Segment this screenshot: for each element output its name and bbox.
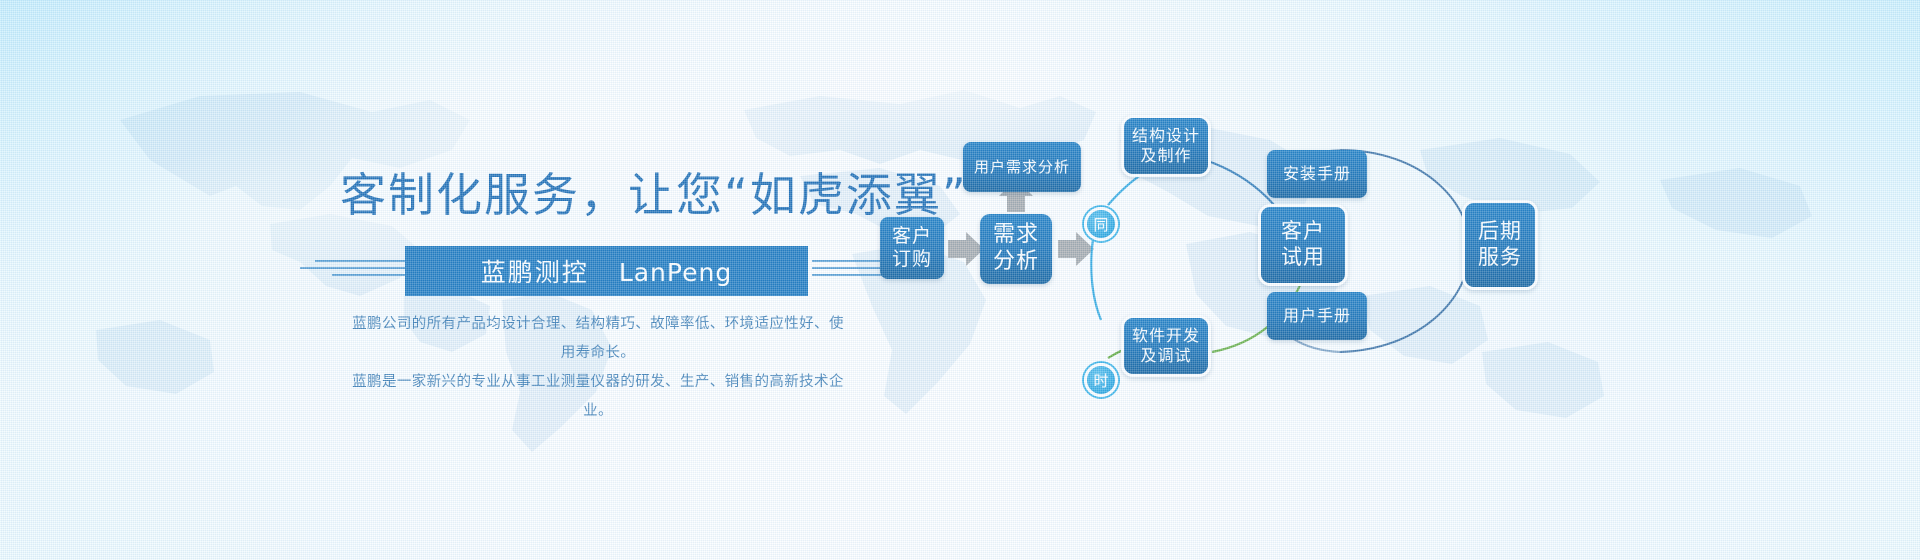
flow-node-label: 客户 订购 [892,225,932,271]
marker-simultaneous-shi: 时 [1084,363,1118,397]
flow-node-label-line2: 服务 [1478,245,1522,271]
flow-node-label-line2: 订购 [892,248,932,271]
customized-service-banner: 客制化服务，让您“如虎添翼” 蓝鹏测控LanPeng 蓝鹏公司的所有产品均设计合… [0,0,1920,560]
flow-node-label-line1: 客户 [892,225,932,248]
flow-node-label-line2: 试用 [1281,245,1325,271]
description-line-1: 蓝鹏公司的所有产品均设计合理、结构精巧、故障率低、环境适应性好、使用寿命长。 [348,310,848,368]
flow-node-label: 后期 服务 [1478,219,1522,270]
flow-node-label-line2: 及调试 [1132,346,1200,366]
page-title: 客制化服务，让您“如虎添翼” [340,166,968,224]
marker-simultaneous-tong: 同 [1084,207,1118,241]
flow-connectors [0,0,1920,560]
flow-node-requirement-analysis: 需求 分析 [980,214,1052,284]
flow-node-label: 需求 分析 [993,222,1039,276]
flow-node-label-line1: 软件开发 [1132,326,1200,346]
flow-node-label: 结构设计 及制作 [1132,126,1200,165]
brand-bar-text: 蓝鹏测控LanPeng [481,253,732,289]
brand-name-cn: 蓝鹏测控 [481,258,589,287]
brand-bar: 蓝鹏测控LanPeng [405,246,808,296]
flow-node-user-manual: 用户手册 [1267,292,1367,340]
marker-label: 同 [1093,214,1108,235]
flow-node-label-line2: 分析 [993,249,1039,276]
deco-line [300,267,410,269]
flow-node-installation-manual: 安装手册 [1267,150,1367,198]
flow-node-label: 软件开发 及调试 [1132,326,1200,365]
flow-node-label-line1: 结构设计 [1132,126,1200,146]
flow-node-customer-trial: 客户 试用 [1258,204,1348,286]
description-line-2: 蓝鹏是一家新兴的专业从事工业测量仪器的研发、生产、销售的高新技术企业。 [348,368,848,426]
flow-node-label: 用户手册 [1283,306,1351,326]
flow-node-user-requirement-analysis: 用户需求分析 [963,142,1081,192]
deco-line [332,274,410,276]
flow-node-label-line1: 需求 [993,222,1039,249]
flow-node-label: 用户需求分析 [974,158,1070,176]
brand-name-en: LanPeng [619,258,732,287]
marker-label: 时 [1093,370,1108,391]
deco-line [812,274,890,276]
flow-node-label-line1: 后期 [1478,219,1522,245]
flow-node-label: 安装手册 [1283,164,1351,184]
flow-node-label: 客户 试用 [1281,219,1325,270]
flow-node-customer-order: 客户 订购 [880,217,944,279]
company-description: 蓝鹏公司的所有产品均设计合理、结构精巧、故障率低、环境适应性好、使用寿命长。 蓝… [348,310,848,426]
flow-node-label-line1: 客户 [1281,219,1325,245]
flow-node-software-development: 软件开发 及调试 [1121,315,1211,377]
flow-node-structural-design: 结构设计 及制作 [1121,115,1211,177]
flow-node-after-sales-service: 后期 服务 [1462,200,1538,290]
decorative-lines-left [300,260,410,276]
flow-node-label-line2: 及制作 [1132,146,1200,166]
deco-line [315,260,410,262]
